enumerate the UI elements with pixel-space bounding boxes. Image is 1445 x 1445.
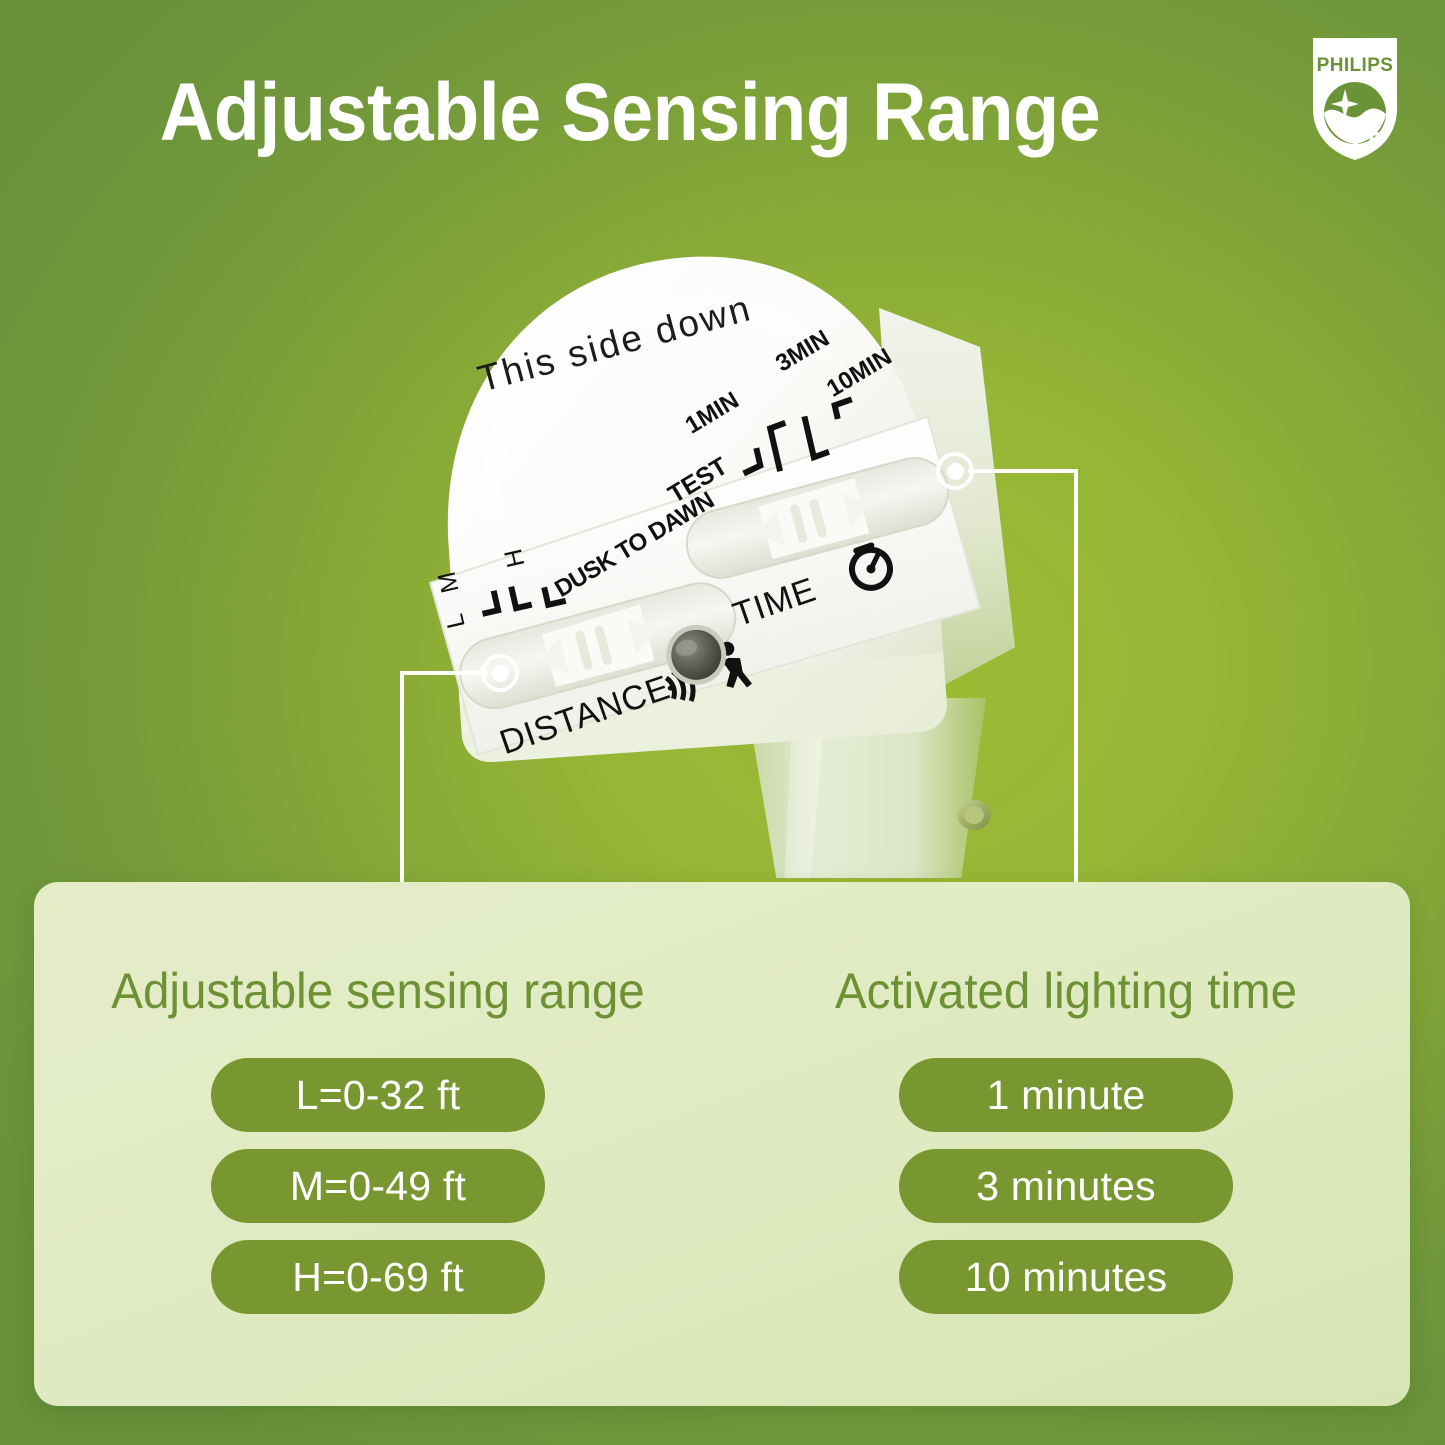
sensing-range-pills: L=0-32 ft M=0-49 ft H=0-69 ft bbox=[34, 1058, 722, 1314]
lighting-time-column: Activated lighting time 1 minute 3 minut… bbox=[722, 882, 1410, 1406]
time-callout-line-horizontal bbox=[968, 469, 1078, 473]
sensor-head: This side down bbox=[383, 236, 1021, 773]
pill-time-3min[interactable]: 3 minutes bbox=[899, 1149, 1233, 1223]
page-title: Adjustable Sensing Range bbox=[50, 72, 1209, 154]
info-card: Adjustable sensing range L=0-32 ft M=0-4… bbox=[34, 882, 1410, 1406]
pill-sensing-medium[interactable]: M=0-49 ft bbox=[211, 1149, 545, 1223]
lighting-time-heading: Activated lighting time bbox=[739, 966, 1393, 1016]
pill-sensing-low[interactable]: L=0-32 ft bbox=[211, 1058, 545, 1132]
sensing-range-heading: Adjustable sensing range bbox=[51, 966, 705, 1016]
philips-shield-logo: PHILIPS bbox=[1307, 34, 1403, 162]
pill-time-10min[interactable]: 10 minutes bbox=[899, 1240, 1233, 1314]
time-callout-line-vertical bbox=[1074, 469, 1078, 933]
sensing-range-column: Adjustable sensing range L=0-32 ft M=0-4… bbox=[34, 882, 722, 1406]
motion-sensor-device: This side down bbox=[374, 198, 1074, 878]
infographic-canvas: Adjustable Sensing Range PHILIPS bbox=[0, 0, 1445, 1445]
svg-text:PHILIPS: PHILIPS bbox=[1317, 55, 1394, 76]
distance-callout-line-horizontal bbox=[402, 671, 488, 675]
pill-time-1min[interactable]: 1 minute bbox=[899, 1058, 1233, 1132]
lighting-time-pills: 1 minute 3 minutes 10 minutes bbox=[722, 1058, 1410, 1314]
pill-sensing-high[interactable]: H=0-69 ft bbox=[211, 1240, 545, 1314]
